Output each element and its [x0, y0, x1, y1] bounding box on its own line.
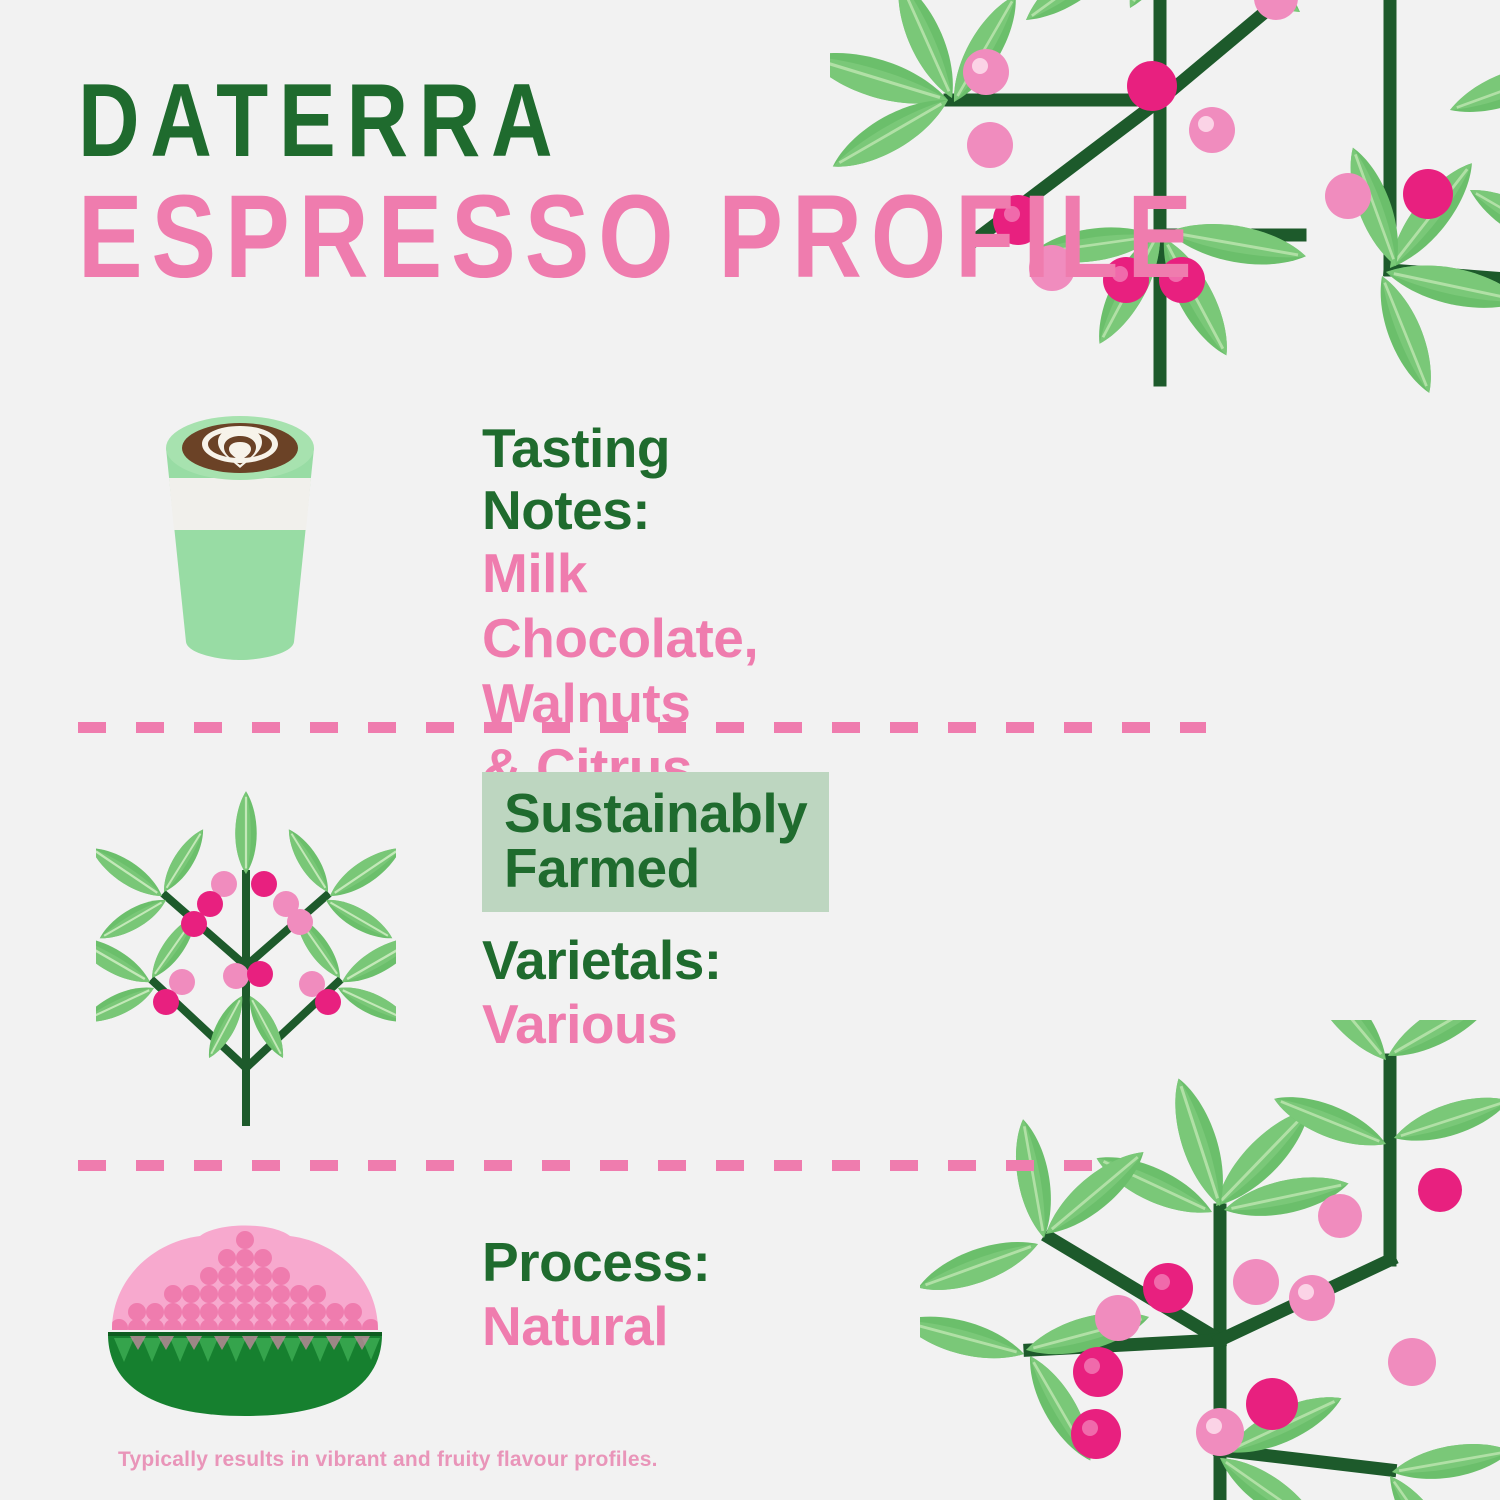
- row-varietals-text: Sustainably Farmed Varietals: Various: [482, 772, 829, 1056]
- poster-title: DATERRA ESPRESSO PROFILE: [78, 72, 1447, 293]
- process-value: Natural: [482, 1294, 710, 1359]
- sustainably-farmed-badge-wrap: Sustainably Farmed: [482, 772, 829, 912]
- latte-cup-icon: [140, 396, 340, 666]
- row-process-text: Process: Natural: [482, 1232, 710, 1358]
- process-label: Process:: [482, 1232, 710, 1294]
- coffee-plant-icon: [96, 786, 396, 1126]
- cherry-bowl-icon: [100, 1222, 390, 1422]
- varietals-value: Various: [482, 992, 829, 1057]
- title-primary: DATERRA: [78, 72, 1201, 171]
- espresso-profile-poster: DATERRA ESPRESSO PROFILE Tasting Notes: …: [0, 0, 1500, 1500]
- varietals-label: Varietals:: [482, 930, 829, 992]
- botanical-bottom-right-decoration: [920, 1020, 1500, 1500]
- sustainably-farmed-badge: Sustainably Farmed: [482, 772, 829, 912]
- tasting-notes-label: Tasting Notes:: [482, 418, 758, 541]
- berry-cluster: [1071, 1168, 1462, 1459]
- row-tasting-notes-text: Tasting Notes: Milk Chocolate, Walnuts &…: [482, 418, 758, 801]
- divider-1: [78, 722, 1206, 733]
- footnote-text: Typically results in vibrant and fruity …: [118, 1448, 658, 1472]
- title-secondary: ESPRESSO PROFILE: [78, 181, 1201, 293]
- tasting-notes-value-line-1: Milk Chocolate, Walnuts: [482, 541, 758, 736]
- divider-2: [78, 1160, 1098, 1171]
